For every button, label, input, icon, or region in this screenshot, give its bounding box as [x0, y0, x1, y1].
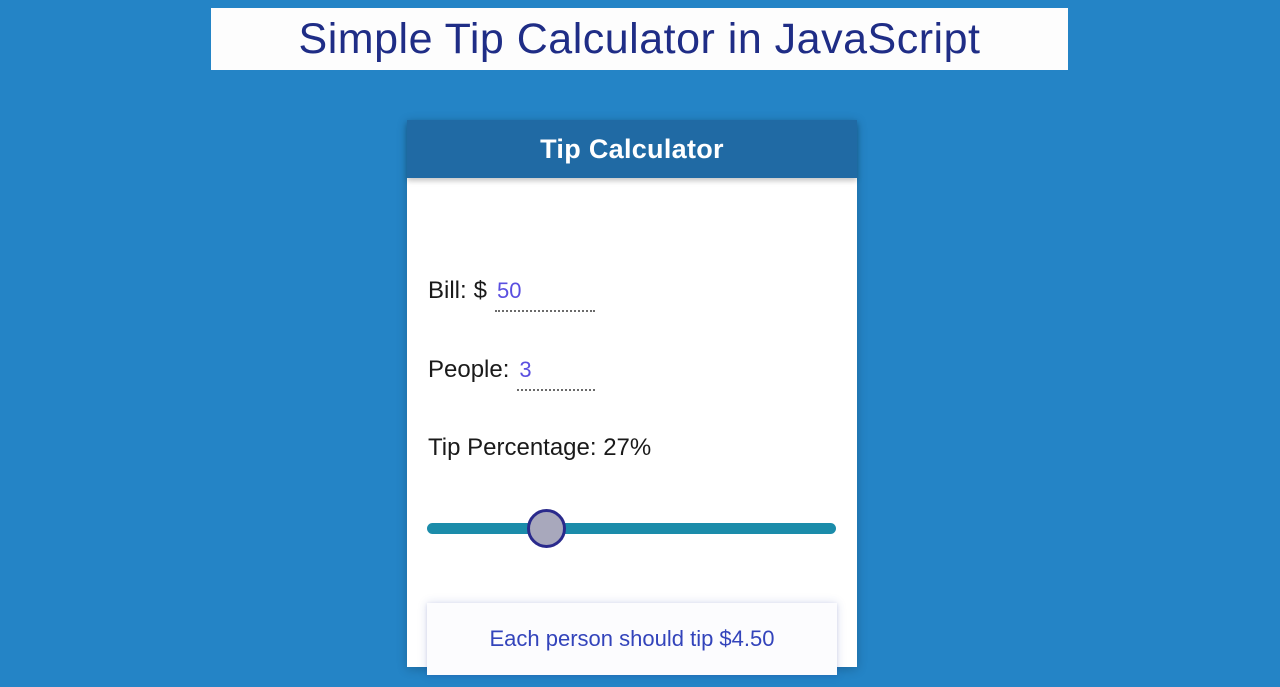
people-field-row: People: — [428, 357, 595, 391]
bill-field-row: Bill: $ — [428, 278, 595, 312]
people-label: People: — [428, 358, 509, 382]
slider-track[interactable] — [427, 523, 836, 534]
page-title-banner: Simple Tip Calculator in JavaScript — [211, 8, 1068, 70]
tip-calculator-card: Tip Calculator Bill: $ People: Tip Perce… — [407, 120, 857, 667]
tip-percentage-row: Tip Percentage: 27% — [428, 436, 651, 460]
bill-input[interactable] — [495, 278, 595, 312]
page-title: Simple Tip Calculator in JavaScript — [299, 18, 981, 61]
result-box: Each person should tip $4.50 — [427, 603, 837, 675]
card-header: Tip Calculator — [407, 120, 857, 178]
card-body: Bill: $ People: Tip Percentage: 27% Each… — [407, 178, 857, 667]
card-title: Tip Calculator — [540, 136, 724, 163]
bill-label: Bill: — [428, 279, 467, 303]
dollar-sign-icon: $ — [474, 279, 487, 303]
people-input[interactable] — [517, 357, 595, 391]
result-text: Each person should tip $4.50 — [490, 628, 775, 650]
tip-percentage-slider[interactable] — [427, 508, 836, 548]
tip-percentage-display: Tip Percentage: 27% — [428, 436, 651, 460]
slider-thumb[interactable] — [527, 509, 566, 548]
